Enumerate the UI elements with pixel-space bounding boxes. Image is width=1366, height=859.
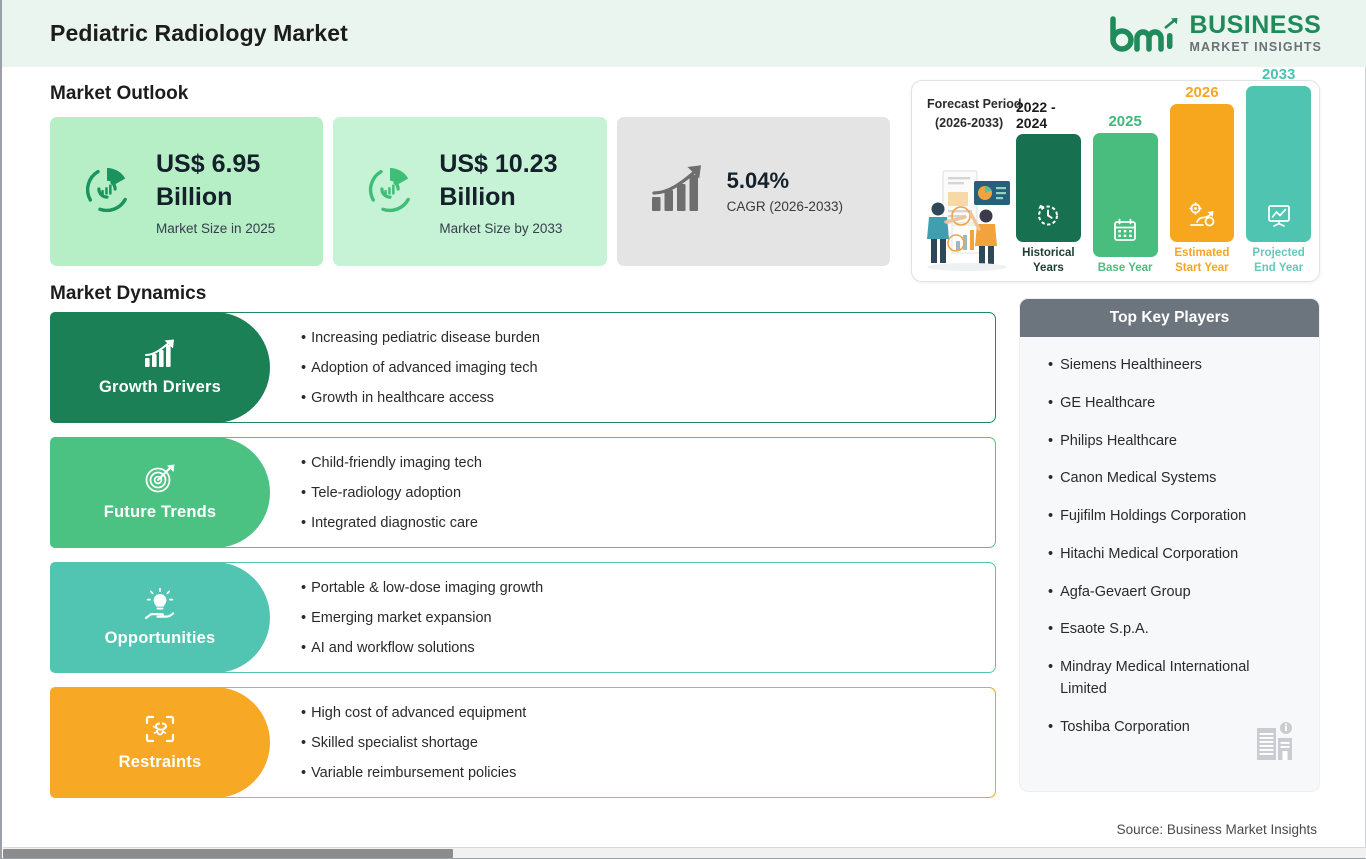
dynamics-pill-label: Restraints <box>119 753 202 772</box>
market-dynamics-rows: •Increasing pediatric disease burden •Ad… <box>50 312 996 812</box>
dynamics-item-text: Integrated diagnostic care <box>311 515 478 531</box>
forecast-bars: 2022 - 2024 Historical Years 2025 <box>1016 89 1311 275</box>
forecast-bar-caption: Estimated Start Year <box>1170 246 1235 275</box>
page-title: Pediatric Radiology Market <box>50 20 348 47</box>
dynamics-pill-future-trends: Future Trends <box>50 437 270 548</box>
player-name: Fujifilm Holdings Corporation <box>1060 506 1246 528</box>
dynamics-item-text: Variable reimbursement policies <box>311 765 516 781</box>
card-caption: Market Size in 2025 <box>156 221 323 236</box>
bar-growth-icon <box>143 339 177 374</box>
dynamics-item: •Emerging market expansion <box>301 610 995 626</box>
team-analytics-illustration <box>919 159 1015 271</box>
dynamics-item: •Increasing pediatric disease burden <box>301 330 995 346</box>
forecast-bar-shape <box>1170 104 1235 242</box>
card-caption: CAGR (2026-2033) <box>727 199 843 214</box>
dynamics-pill-restraints: Restraints <box>50 687 270 798</box>
list-item: •Esaote S.p.A. <box>1048 619 1297 641</box>
dynamics-row-future-trends: •Child-friendly imaging tech •Tele-radio… <box>50 437 996 548</box>
cagr-card: 5.04% CAGR (2026-2033) <box>617 117 890 266</box>
dynamics-item: •Portable & low-dose imaging growth <box>301 580 995 596</box>
dynamics-pill-growth-drivers: Growth Drivers <box>50 312 270 423</box>
calendar-icon <box>1112 217 1138 248</box>
dynamics-item: •Child-friendly imaging tech <box>301 455 995 471</box>
list-item: •GE Healthcare <box>1048 393 1297 415</box>
bullet-glyph: • <box>1048 717 1053 739</box>
bullet-glyph: • <box>1048 506 1053 528</box>
forecast-period-panel: Forecast Period (2026-2033) <box>911 80 1320 282</box>
bullet-glyph: • <box>1048 355 1053 377</box>
growth-arrow-chart-icon <box>649 162 711 221</box>
card-value: US$ 10.23 Billion <box>439 148 606 214</box>
bullet-glyph: • <box>301 455 306 471</box>
forecast-bar-historical: 2022 - 2024 Historical Years <box>1016 99 1081 275</box>
gear-chart-icon <box>1188 202 1216 233</box>
dynamics-pill-opportunities: Opportunities <box>50 562 270 673</box>
bmi-logo-icon <box>1107 16 1181 52</box>
company-info-building-icon <box>1253 720 1297 769</box>
dynamics-row-growth-drivers: •Increasing pediatric disease burden •Ad… <box>50 312 996 423</box>
list-item: •Fujifilm Holdings Corporation <box>1048 506 1297 528</box>
player-name: Philips Healthcare <box>1060 431 1177 453</box>
bullet-glyph: • <box>301 640 306 656</box>
lightbulb-hand-icon <box>143 588 177 625</box>
bullet-glyph: • <box>1048 619 1053 641</box>
dynamics-item-text: High cost of advanced equipment <box>311 705 526 721</box>
bullet-glyph: • <box>301 330 306 346</box>
bullet-glyph: • <box>301 515 306 531</box>
dynamics-row-restraints: •High cost of advanced equipment •Skille… <box>50 687 996 798</box>
constraint-knot-icon <box>144 714 176 749</box>
bullet-glyph: • <box>1048 393 1053 415</box>
top-key-players-list: •Siemens Healthineers •GE Healthcare •Ph… <box>1020 337 1319 738</box>
scrollbar-thumb[interactable] <box>3 849 453 858</box>
dynamics-item: •Integrated diagnostic care <box>301 515 995 531</box>
logo-brand-text: BUSINESS <box>1190 13 1322 38</box>
forecast-bar-shape <box>1016 134 1081 242</box>
player-name: Hitachi Medical Corporation <box>1060 544 1238 566</box>
player-name: Mindray Medical International Limited <box>1060 657 1297 701</box>
presentation-chart-icon <box>1266 202 1292 233</box>
player-name: GE Healthcare <box>1060 393 1155 415</box>
player-name: Esaote S.p.A. <box>1060 619 1149 641</box>
top-key-players-panel: Top Key Players •Siemens Healthineers •G… <box>1019 298 1320 792</box>
player-name: Agfa-Gevaert Group <box>1060 582 1191 604</box>
market-size-2025-card: US$ 6.95 Billion Market Size in 2025 <box>50 117 323 266</box>
bullet-glyph: • <box>301 735 306 751</box>
history-clock-icon <box>1035 202 1061 233</box>
dynamics-item-text: Emerging market expansion <box>311 610 492 626</box>
forecast-bar-caption: Projected End Year <box>1246 246 1311 275</box>
forecast-bar-year: 2026 <box>1185 84 1218 101</box>
forecast-bar-caption: Base Year <box>1098 261 1153 275</box>
market-dynamics-heading: Market Dynamics <box>50 283 206 305</box>
bullet-glyph: • <box>301 360 306 376</box>
dynamics-row-opportunities: •Portable & low-dose imaging growth •Eme… <box>50 562 996 673</box>
dynamics-items-box: •Increasing pediatric disease burden •Ad… <box>155 312 996 423</box>
dynamics-items-box: •High cost of advanced equipment •Skille… <box>155 687 996 798</box>
bullet-glyph: • <box>301 705 306 721</box>
forecast-label-line1: Forecast Period <box>927 95 1021 114</box>
bullet-glyph: • <box>1048 582 1053 604</box>
list-item: •Canon Medical Systems <box>1048 468 1297 490</box>
donut-bar-chart-icon <box>361 160 419 223</box>
list-item: •Hitachi Medical Corporation <box>1048 544 1297 566</box>
card-value: US$ 6.95 Billion <box>156 148 323 214</box>
forecast-period-label: Forecast Period (2026-2033) <box>927 95 1021 134</box>
logo-tagline-text: MARKET INSIGHTS <box>1190 41 1322 54</box>
dynamics-items-box: •Child-friendly imaging tech •Tele-radio… <box>155 437 996 548</box>
bullet-glyph: • <box>1048 468 1053 490</box>
bullet-glyph: • <box>1048 657 1053 701</box>
dynamics-item-text: Portable & low-dose imaging growth <box>311 580 543 596</box>
list-item: •Siemens Healthineers <box>1048 355 1297 377</box>
dynamics-item: •AI and workflow solutions <box>301 640 995 656</box>
dynamics-pill-label: Growth Drivers <box>99 378 221 397</box>
forecast-bar-estimated: 2026 Estimated Start <box>1170 84 1235 275</box>
player-name: Toshiba Corporation <box>1060 717 1190 739</box>
dynamics-item: •Growth in healthcare access <box>301 390 995 406</box>
bullet-glyph: • <box>301 580 306 596</box>
bullet-glyph: • <box>1048 544 1053 566</box>
dynamics-item-text: Growth in healthcare access <box>311 390 494 406</box>
bullet-glyph: • <box>301 390 306 406</box>
dynamics-item: •Tele-radiology adoption <box>301 485 995 501</box>
forecast-bar-shape <box>1246 86 1311 242</box>
forecast-bar-year: 2033 <box>1262 66 1295 83</box>
forecast-bar-caption: Historical Years <box>1016 246 1081 275</box>
brand-logo: BUSINESS MARKET INSIGHTS <box>1107 13 1322 54</box>
donut-bar-chart-icon <box>78 160 136 223</box>
forecast-label-line2: (2026-2033) <box>927 114 1021 133</box>
dynamics-item: •Adoption of advanced imaging tech <box>301 360 995 376</box>
dynamics-item-text: AI and workflow solutions <box>311 640 475 656</box>
bullet-glyph: • <box>1048 431 1053 453</box>
top-key-players-title: Top Key Players <box>1020 299 1319 337</box>
dynamics-pill-label: Future Trends <box>104 503 217 522</box>
dynamics-item: •Variable reimbursement policies <box>301 765 995 781</box>
dynamics-item-text: Skilled specialist shortage <box>311 735 478 751</box>
dynamics-items-box: •Portable & low-dose imaging growth •Eme… <box>155 562 996 673</box>
market-outlook-heading: Market Outlook <box>50 83 188 105</box>
horizontal-scrollbar[interactable] <box>3 847 1366 858</box>
market-size-2033-card: US$ 10.23 Billion Market Size by 2033 <box>333 117 606 266</box>
dynamics-item-text: Tele-radiology adoption <box>311 485 461 501</box>
forecast-bar-year: 2022 - 2024 <box>1016 99 1081 131</box>
list-item: •Mindray Medical International Limited <box>1048 657 1297 701</box>
card-caption: Market Size by 2033 <box>439 221 606 236</box>
card-value: 5.04% <box>727 169 843 193</box>
forecast-bar-base: 2025 <box>1093 113 1158 275</box>
list-item: •Philips Healthcare <box>1048 431 1297 453</box>
forecast-bar-shape <box>1093 133 1158 257</box>
player-name: Canon Medical Systems <box>1060 468 1216 490</box>
player-name: Siemens Healthineers <box>1060 355 1202 377</box>
infographic-page: Pediatric Radiology Market BUSINESS MARK… <box>0 0 1366 859</box>
dynamics-item-text: Adoption of advanced imaging tech <box>311 360 538 376</box>
list-item: •Agfa-Gevaert Group <box>1048 582 1297 604</box>
target-dart-icon <box>144 464 176 499</box>
dynamics-item: •Skilled specialist shortage <box>301 735 995 751</box>
bullet-glyph: • <box>301 765 306 781</box>
forecast-bar-year: 2025 <box>1108 113 1141 130</box>
dynamics-item-text: Child-friendly imaging tech <box>311 455 482 471</box>
forecast-bar-projected: 2033 Projected End Year <box>1246 66 1311 275</box>
dynamics-item: •High cost of advanced equipment <box>301 705 995 721</box>
bullet-glyph: • <box>301 485 306 501</box>
dynamics-item-text: Increasing pediatric disease burden <box>311 330 540 346</box>
market-outlook-cards: US$ 6.95 Billion Market Size in 2025 US <box>50 117 890 266</box>
dynamics-pill-label: Opportunities <box>105 629 216 648</box>
bullet-glyph: • <box>301 610 306 626</box>
page-header: Pediatric Radiology Market BUSINESS MARK… <box>2 0 1366 67</box>
source-credit: Source: Business Market Insights <box>1117 822 1317 837</box>
